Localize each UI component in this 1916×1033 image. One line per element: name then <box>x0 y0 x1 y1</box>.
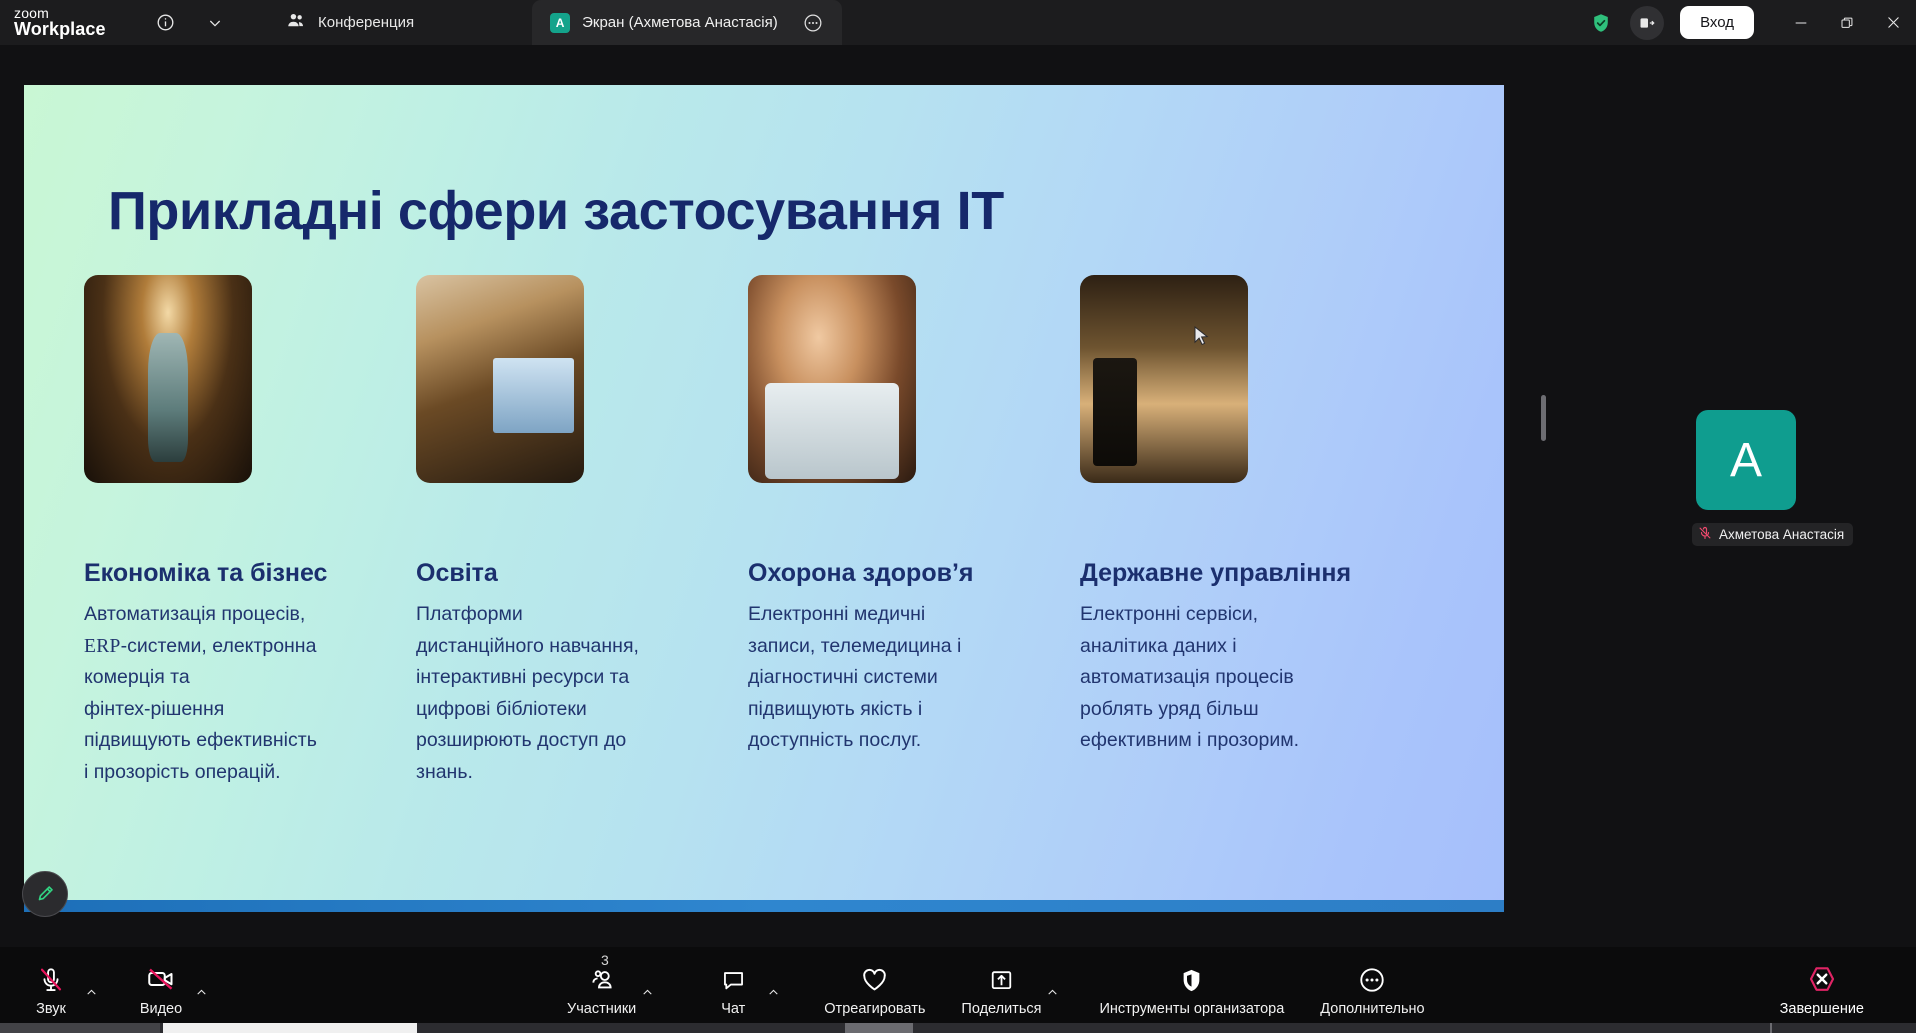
card-body-line: ефективним і прозорим. <box>1080 725 1384 757</box>
card-body: Електронні сервіси, аналітика даних і ав… <box>1080 599 1384 757</box>
presentation-slide: Прикладні сфери застосування ІТ Економік… <box>24 85 1504 912</box>
pen-annotate-icon[interactable] <box>22 871 68 917</box>
warehouse-robot-photo <box>84 275 252 483</box>
participants-label: Участники <box>567 1001 636 1017</box>
audio-control-group: Звук <box>22 954 102 1026</box>
card-heading: Економіка та бізнес <box>84 559 388 588</box>
chat-label: Чат <box>721 1001 745 1017</box>
restore-icon[interactable] <box>1824 0 1870 45</box>
participants-count: 3 <box>601 952 609 968</box>
card-body-line: цифрові бібліотеки <box>416 694 720 726</box>
video-button[interactable]: Видео <box>132 954 190 1026</box>
camera-off-icon <box>146 964 176 994</box>
slide-card: Охорона здоров’я Електронні медичні запи… <box>734 275 1066 788</box>
participant-name-chip: Ахметова Анастасія <box>1692 523 1853 546</box>
avatar: A <box>1730 433 1762 488</box>
card-body-line: автоматизація процесів <box>1080 662 1384 694</box>
slide-title: Прикладні сфери застосування ІТ <box>108 180 1004 242</box>
host-tools-label: Инструменты организатора <box>1099 1001 1284 1017</box>
chat-control-group: Чат <box>704 954 784 1026</box>
doctor-tablet-photo <box>748 275 916 483</box>
tab-conference-label: Конференция <box>318 14 414 31</box>
host-tools-shield-icon <box>1178 964 1205 994</box>
card-body-line: і прозорість операцій. <box>84 757 388 789</box>
slide-cards: Економіка та бізнес Автоматизація процес… <box>70 275 1470 788</box>
card-body-line: аналітика даних і <box>1080 631 1384 663</box>
audio-button[interactable]: Звук <box>22 954 80 1026</box>
zoom-logo: zoom Workplace <box>14 6 124 40</box>
card-body: Електронні медичні записи, телемедицина … <box>748 599 1052 757</box>
microphone-muted-icon <box>1698 526 1712 543</box>
card-body-line: ERP-системи, електронна <box>84 631 388 663</box>
card-body-line: записи, телемедицина і <box>748 631 1052 663</box>
more-ellipsis-icon <box>1358 964 1386 994</box>
card-body-line: фінтех-рішення <box>84 694 388 726</box>
taskbar-segment <box>0 1023 160 1033</box>
stage-scrollbar[interactable] <box>1541 395 1546 441</box>
share-options-caret-icon[interactable] <box>1041 962 1063 1022</box>
title-bar: zoom Workplace Конференция A Экран (Ахме… <box>0 0 1916 45</box>
participant-name: Ахметова Анастасія <box>1719 527 1844 542</box>
os-taskbar <box>0 1023 1916 1033</box>
tab-avatar: A <box>550 13 570 33</box>
card-body-line: Електронні сервіси, <box>1080 599 1384 631</box>
heart-reaction-icon <box>860 964 889 994</box>
sign-in-button[interactable]: Вход <box>1680 6 1754 39</box>
participants-options-caret-icon[interactable] <box>636 962 658 1022</box>
card-body-line: підвищують якість і <box>748 694 1052 726</box>
government-kiosk-photo <box>1080 275 1248 483</box>
participants-panel: A Ахметова Анастасія <box>1556 90 1916 992</box>
tab-screen-share[interactable]: A Экран (Ахметова Анастасія) <box>532 0 842 45</box>
card-body-line: діагностичні системи <box>748 662 1052 694</box>
chat-bubble-icon <box>720 964 747 994</box>
slide-card: Освіта Платформи дистанційного навчання,… <box>402 275 734 788</box>
card-body-line: Електронні медичні <box>748 599 1052 631</box>
brand-line-1: zoom <box>14 6 124 21</box>
card-body-line: доступність послуг. <box>748 725 1052 757</box>
tab-conference[interactable]: Конференция <box>268 0 432 45</box>
participants-group-icon <box>286 10 307 35</box>
card-body: Автоматизація процесів, ERP-системи, еле… <box>84 599 388 788</box>
taskbar-segment <box>1770 1023 1772 1033</box>
info-icon[interactable] <box>148 6 182 40</box>
end-meeting-label: Завершение <box>1780 1001 1864 1017</box>
student-laptop-photo <box>416 275 584 483</box>
audio-label: Звук <box>36 1001 66 1017</box>
card-body-line: Платформи <box>416 599 720 631</box>
brand-line-2: Workplace <box>14 20 124 39</box>
slide-progress-bar <box>24 900 1504 912</box>
title-bar-right: Вход <box>1584 0 1916 45</box>
end-meeting-icon <box>1807 964 1837 994</box>
more-options-icon[interactable] <box>800 10 826 36</box>
slide-card: Економіка та бізнес Автоматизація процес… <box>70 275 402 788</box>
close-icon[interactable] <box>1870 0 1916 45</box>
meeting-control-bar: Звук Видео <box>0 947 1916 1033</box>
share-screen-icon <box>988 964 1015 994</box>
react-label: Отреагировать <box>824 1001 925 1017</box>
taskbar-active-window[interactable] <box>163 1023 417 1033</box>
card-heading: Охорона здоров’я <box>748 559 1052 588</box>
minimize-icon[interactable] <box>1778 0 1824 45</box>
end-meeting-button[interactable]: Завершение <box>1780 954 1864 1026</box>
participants-control-group: 3 Участники <box>567 954 658 1026</box>
card-body-line: підвищують ефективність <box>84 725 388 757</box>
more-button[interactable]: Дополнительно <box>1320 954 1424 1026</box>
card-body-line: знань. <box>416 757 720 789</box>
card-heading: Освіта <box>416 559 720 588</box>
microphone-muted-icon <box>37 964 65 994</box>
host-tools-button[interactable]: Инструменты организатора <box>1099 954 1284 1026</box>
share-control-group: Поделиться <box>961 954 1063 1026</box>
participants-icon <box>588 964 616 994</box>
tab-screen-label: Экран (Ахметова Анастасія) <box>582 14 778 31</box>
panel-toggle-icon[interactable] <box>1630 6 1664 40</box>
video-control-group: Видео <box>132 954 212 1026</box>
card-body-line: дистанційного навчання, <box>416 631 720 663</box>
participant-tile[interactable]: A <box>1696 410 1796 510</box>
participants-button[interactable]: 3 Участники <box>567 954 636 1026</box>
security-shield-icon[interactable] <box>1584 6 1618 40</box>
mouse-cursor <box>1194 326 1210 353</box>
card-body: Платформи дистанційного навчання, інтера… <box>416 599 720 788</box>
slide-card: Державне управління Електронні сервіси, … <box>1066 275 1398 788</box>
card-heading: Державне управління <box>1080 559 1384 588</box>
react-button[interactable]: Отреагировать <box>824 954 925 1026</box>
card-body-line: комерція та <box>84 662 388 694</box>
video-options-caret-icon[interactable] <box>190 962 212 1022</box>
chat-button[interactable]: Чат <box>704 954 762 1026</box>
share-label: Поделиться <box>961 1001 1041 1017</box>
taskbar-segment <box>845 1023 913 1033</box>
shared-screen-stage: Прикладні сфери застосування ІТ Економік… <box>0 45 1916 947</box>
card-body-line: Автоматизація процесів, <box>84 599 388 631</box>
card-body-line: роблять уряд більш <box>1080 694 1384 726</box>
card-body-line: інтерактивні ресурси та <box>416 662 720 694</box>
chevron-down-icon[interactable] <box>198 6 232 40</box>
more-label: Дополнительно <box>1320 1001 1424 1017</box>
chat-options-caret-icon[interactable] <box>762 962 784 1022</box>
audio-options-caret-icon[interactable] <box>80 962 102 1022</box>
card-body-line: розширюють доступ до <box>416 725 720 757</box>
video-label: Видео <box>140 1001 182 1017</box>
share-button[interactable]: Поделиться <box>961 954 1041 1026</box>
